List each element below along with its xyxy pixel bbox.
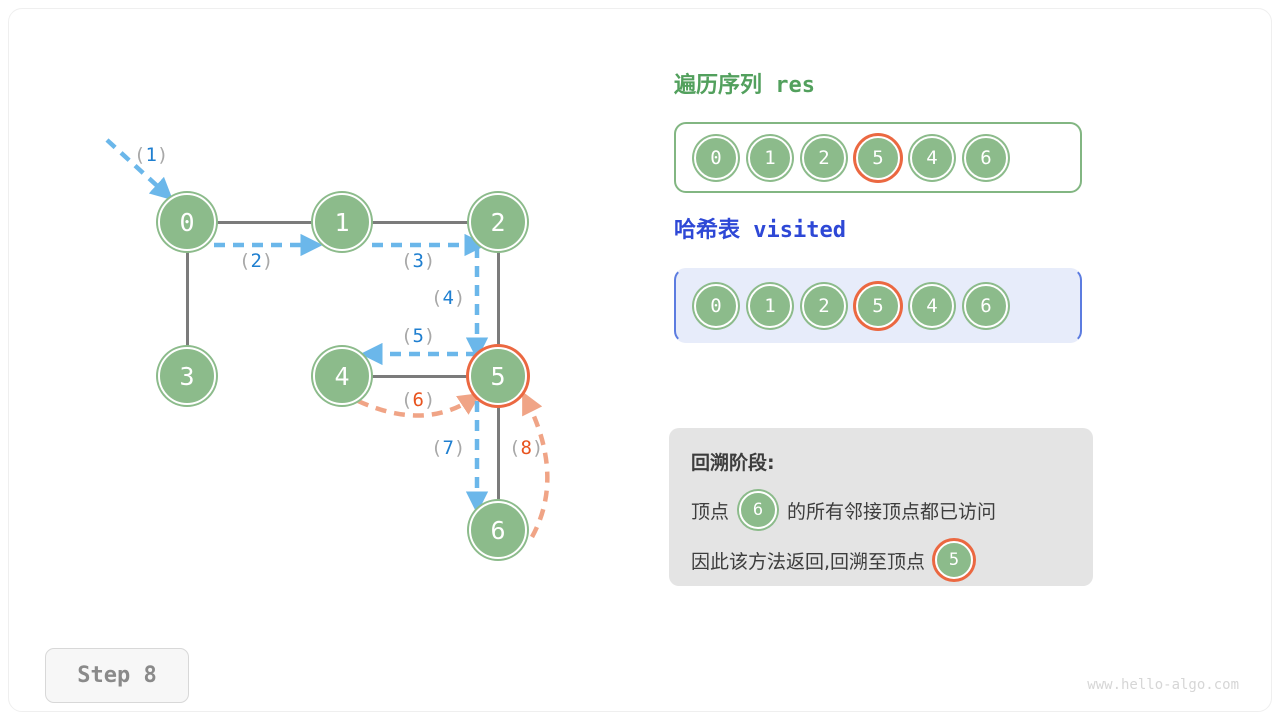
res-cell-5[interactable]: 6 [964,136,1008,180]
step-label-3: (3) [401,250,435,272]
res-cell-1[interactable]: 1 [748,136,792,180]
info-line-1-pre: 顶点 [691,497,729,524]
step-label-5-num: 5 [412,325,423,347]
visited-cell-5-label: 6 [980,295,991,317]
visited-cell-2-label: 2 [818,295,829,317]
graph-node-5-label: 5 [490,362,505,391]
step-label-8-num: 8 [520,437,531,459]
watermark: www.hello-algo.com [1087,677,1239,693]
res-cell-2[interactable]: 2 [802,136,846,180]
info-heading: 回溯阶段: [691,448,1071,475]
edge-0-3 [186,251,189,347]
visited-cell-5[interactable]: 6 [964,284,1008,328]
res-cell-4[interactable]: 4 [910,136,954,180]
graph-node-5[interactable]: 5 [469,347,527,405]
visited-cell-1-label: 1 [764,295,775,317]
graph-node-4[interactable]: 4 [313,347,371,405]
visited-cell-4[interactable]: 4 [910,284,954,328]
step-label-8: (8) [509,437,543,459]
step-label-7-num: 7 [442,437,453,459]
step-label-4-num: 4 [442,287,453,309]
graph-node-3-label: 3 [179,362,194,391]
visited-title: 哈希表 visited [674,212,846,244]
visited-cell-3-label: 5 [872,295,883,317]
info-node-6: 6 [739,491,777,529]
info-node-5-label: 5 [949,550,959,570]
step-label-2-num: 2 [250,250,261,272]
edge-1-2 [371,221,469,224]
res-sequence-box: 0 1 2 5 4 6 [674,122,1082,193]
edge-2-5 [497,251,500,347]
graph-node-2-label: 2 [490,208,505,237]
res-cell-3-label: 5 [872,147,883,169]
visited-sequence-box: 0 1 2 5 4 6 [674,268,1082,343]
info-line-2: 因此该方法返回,回溯至顶点 5 [691,541,1071,579]
edge-0-1 [216,221,313,224]
step-label-5: (5) [401,325,435,347]
graph-node-0[interactable]: 0 [158,193,216,251]
res-cell-0[interactable]: 0 [694,136,738,180]
info-line-2-pre: 因此该方法返回,回溯至顶点 [691,547,925,574]
graph-node-0-label: 0 [179,208,194,237]
info-line-1: 顶点 6 的所有邻接顶点都已访问 [691,491,1071,529]
info-line-1-post: 的所有邻接顶点都已访问 [787,497,996,524]
res-cell-4-label: 4 [926,147,937,169]
res-cell-5-label: 6 [980,147,991,169]
res-cell-0-label: 0 [710,147,721,169]
visited-cell-4-label: 4 [926,295,937,317]
graph-node-6[interactable]: 6 [469,501,527,559]
visited-cell-3[interactable]: 5 [856,284,900,328]
res-cell-1-label: 1 [764,147,775,169]
graph-node-2[interactable]: 2 [469,193,527,251]
slide-frame: 0 1 2 3 4 5 6 (1) (2) (3) (4) [8,8,1272,712]
step-label-4: (4) [431,287,465,309]
step-label-7: (7) [431,437,465,459]
edge-5-6 [497,405,500,501]
graph-node-1[interactable]: 1 [313,193,371,251]
step-label-1-num: 1 [145,144,156,166]
visited-cell-0[interactable]: 0 [694,284,738,328]
arrow-step-8 [527,401,547,537]
edge-4-5 [371,375,469,378]
graph-node-6-label: 6 [490,516,505,545]
res-cell-3[interactable]: 5 [856,136,900,180]
step-label-3-num: 3 [412,250,423,272]
visited-cell-2[interactable]: 2 [802,284,846,328]
info-node-5: 5 [935,541,973,579]
visited-cell-1[interactable]: 1 [748,284,792,328]
step-label-6-num: 6 [412,389,423,411]
graph-node-4-label: 4 [334,362,349,391]
visited-cell-0-label: 0 [710,295,721,317]
res-title: 遍历序列 res [674,67,815,99]
step-label-6: (6) [401,389,435,411]
step-label-2: (2) [239,250,273,272]
step-badge: Step 8 [45,648,189,703]
backtrack-info-box: 回溯阶段: 顶点 6 的所有邻接顶点都已访问 因此该方法返回,回溯至顶点 5 [669,428,1093,586]
res-cell-2-label: 2 [818,147,829,169]
graph-node-3[interactable]: 3 [158,347,216,405]
graph-node-1-label: 1 [334,208,349,237]
step-label-1: (1) [134,144,168,166]
info-node-6-label: 6 [753,500,763,520]
